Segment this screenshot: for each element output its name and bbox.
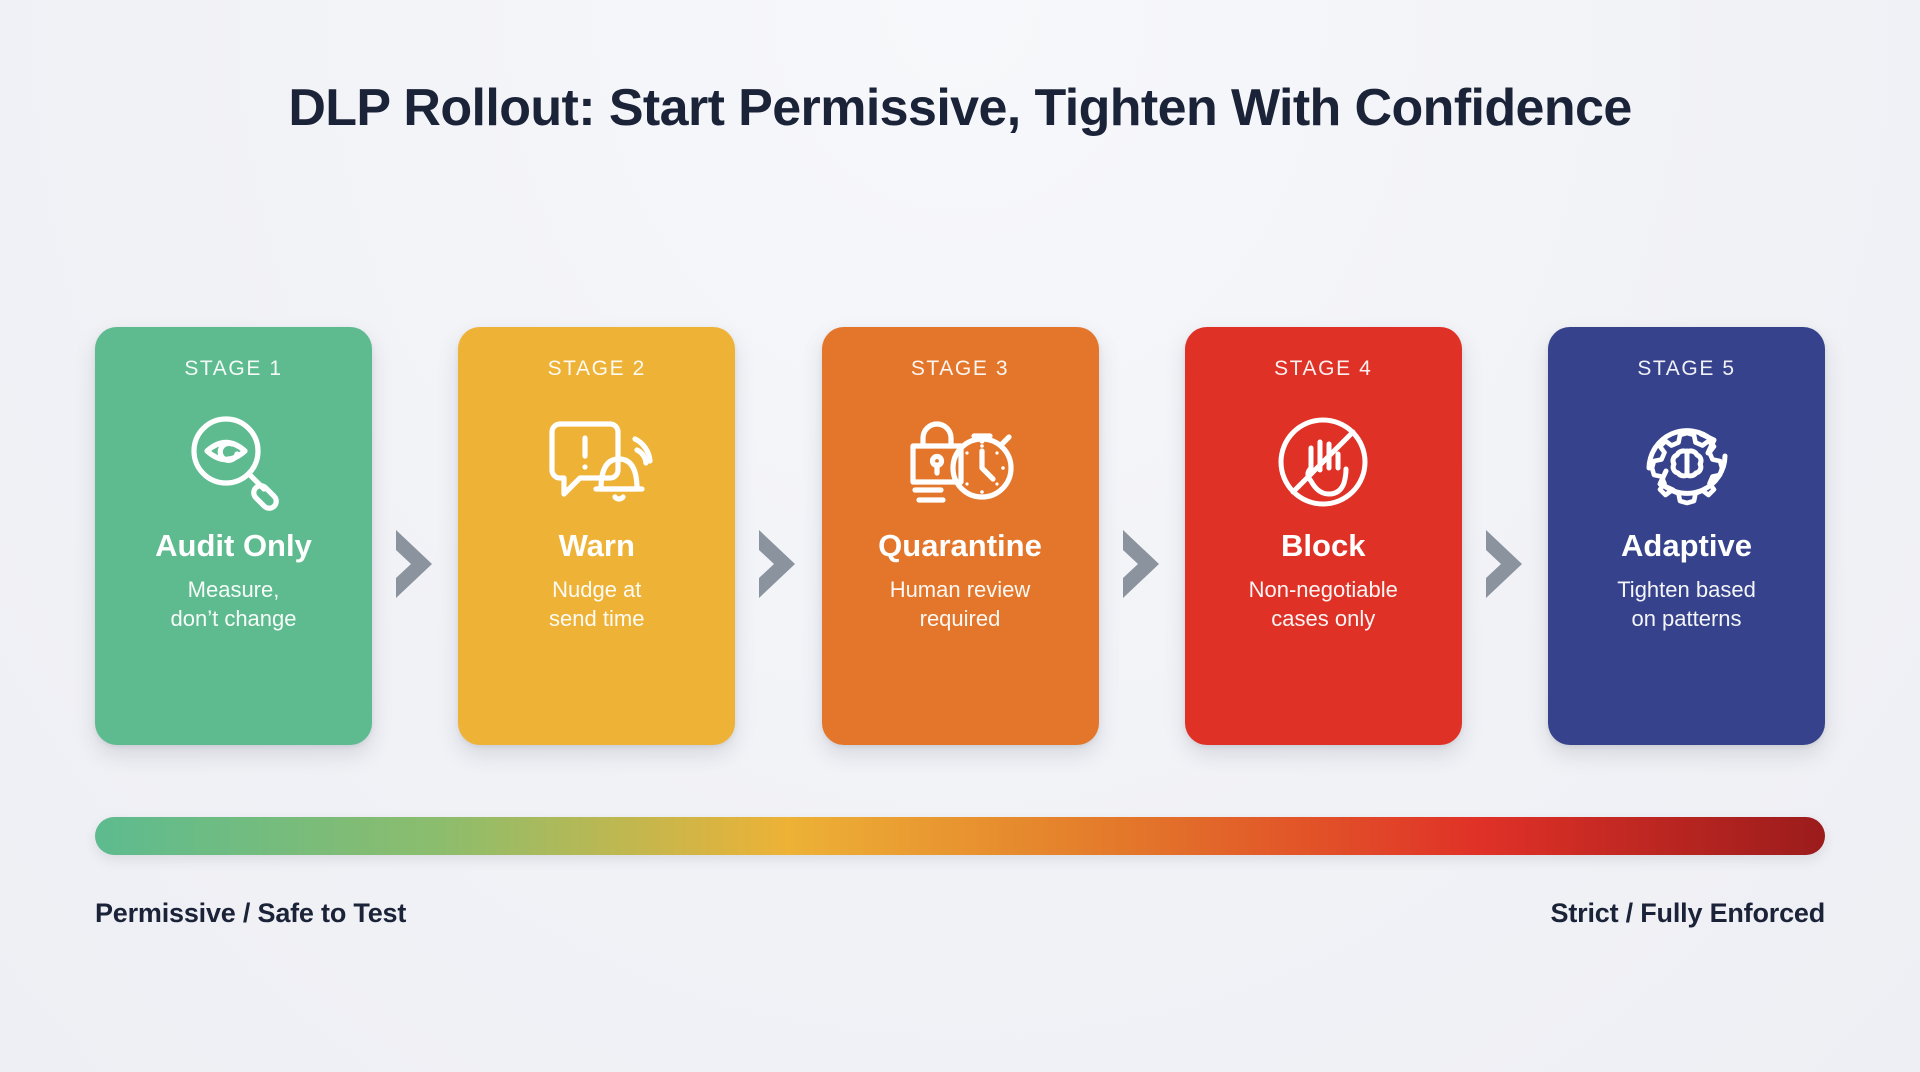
stage-description-3: Human review required xyxy=(890,575,1031,634)
stage-title-2: Warn xyxy=(559,529,635,563)
gear-brain-refresh-icon xyxy=(1629,403,1745,521)
stage-card-4[interactable]: STAGE 4 Block Non-negotiable cases only xyxy=(1185,327,1462,745)
no-entry-hand-icon xyxy=(1267,403,1379,521)
stage-title-4: Block xyxy=(1281,529,1365,563)
infographic-root: DLP Rollout: Start Permissive, Tighten W… xyxy=(0,0,1920,1072)
stage-card-2[interactable]: STAGE 2 Warn Nudge at send time xyxy=(458,327,735,745)
stage-number-label-4: STAGE 4 xyxy=(1274,357,1372,381)
stage-card-3[interactable]: STAGE 3 xyxy=(822,327,1099,745)
stage-title-3: Quarantine xyxy=(878,529,1042,563)
stage-description-5: Tighten based on patterns xyxy=(1617,575,1756,634)
stage-strip: STAGE 1 Audit Only Measure, don’t change… xyxy=(95,327,1825,745)
chevron-right-icon-2 xyxy=(735,355,821,773)
severity-gradient-bar xyxy=(95,817,1825,855)
magnifier-eye-icon xyxy=(178,403,290,521)
stage-description-4: Non-negotiable cases only xyxy=(1249,575,1398,634)
stage-title-5: Adaptive xyxy=(1621,529,1752,563)
stage-number-label-3: STAGE 3 xyxy=(911,357,1009,381)
chevron-right-icon-1 xyxy=(372,355,458,773)
stage-description-1: Measure, don’t change xyxy=(171,575,297,634)
page-title: DLP Rollout: Start Permissive, Tighten W… xyxy=(0,78,1920,138)
stage-description-2: Nudge at send time xyxy=(549,575,644,634)
stage-number-label-2: STAGE 2 xyxy=(548,357,646,381)
scale-label-left: Permissive / Safe to Test xyxy=(95,898,406,929)
stage-number-label-5: STAGE 5 xyxy=(1637,357,1735,381)
speech-bubble-alert-bell-icon xyxy=(538,403,656,521)
stage-number-label-1: STAGE 1 xyxy=(184,357,282,381)
chevron-right-icon-3 xyxy=(1099,355,1185,773)
padlock-stopwatch-icon xyxy=(899,403,1021,521)
scale-label-right: Strict / Fully Enforced xyxy=(1551,898,1825,929)
chevron-right-icon-4 xyxy=(1462,355,1548,773)
stage-card-5[interactable]: STAGE 5 Adaptive Tighten based on patter… xyxy=(1548,327,1825,745)
stage-card-1[interactable]: STAGE 1 Audit Only Measure, don’t change xyxy=(95,327,372,745)
stage-title-1: Audit Only xyxy=(155,529,312,563)
